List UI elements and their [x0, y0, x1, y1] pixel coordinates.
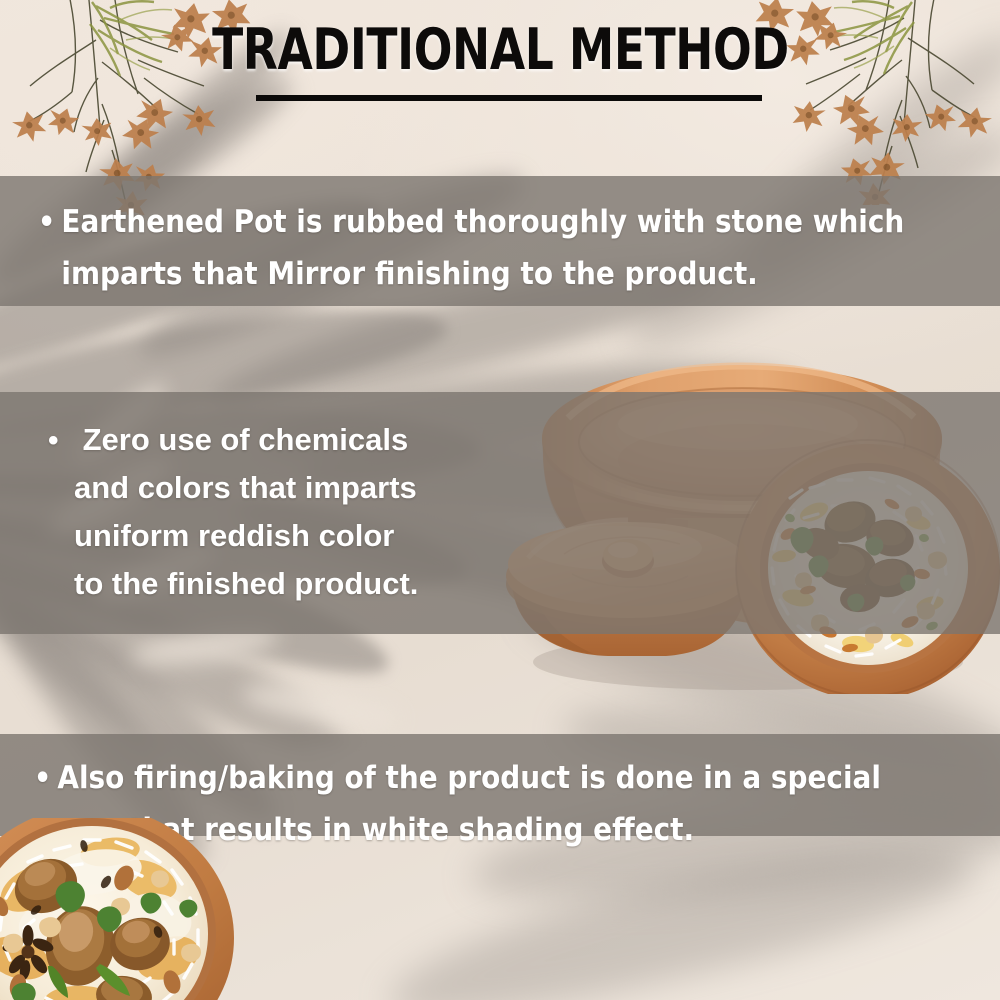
poster-canvas: TRADITIONAL METHOD — [0, 0, 1000, 1000]
bullet-line-text: Earthened Pot is rubbed thoroughly with … — [61, 204, 904, 240]
bullet-line-text: uniform reddish color — [74, 518, 394, 553]
page-title: TRADITIONAL METHOD — [0, 22, 1000, 79]
bullet-line: to the finished product. — [48, 560, 418, 608]
shadow-highlight — [238, 676, 401, 737]
bullet-mirror-finish: Earthened Pot is rubbed thoroughly with … — [38, 196, 904, 300]
bullet-line: Also firing/baking of the product is don… — [34, 752, 881, 804]
biryani-closeup-bowl-image — [0, 818, 236, 1000]
page-title-text: TRADITIONAL METHOD — [212, 22, 789, 79]
title-underline-rule — [256, 95, 762, 101]
bullet-line-text: Also firing/baking of the product is don… — [57, 760, 880, 796]
bullet-line-text: to the finished product. — [74, 566, 418, 601]
bullet-line: Zero use of chemicals — [48, 416, 418, 464]
bullet-line-text: Zero use of chemicals — [74, 422, 408, 457]
bullet-line-text: imparts that Mirror finishing to the pro… — [61, 256, 757, 292]
bullet-line: Earthened Pot is rubbed thoroughly with … — [38, 196, 904, 248]
bullet-marker-icon — [38, 196, 61, 248]
bullet-line: uniform reddish color — [48, 512, 418, 560]
bullet-line: and colors that imparts — [48, 464, 418, 512]
bullet-line-text: and colors that imparts — [74, 470, 417, 505]
bullet-zero-chemicals: Zero use of chemicals and colors that im… — [48, 416, 418, 608]
bullet-marker-icon — [34, 752, 57, 804]
bullet-marker-icon — [48, 416, 74, 464]
bullet-line: imparts that Mirror finishing to the pro… — [38, 248, 904, 300]
